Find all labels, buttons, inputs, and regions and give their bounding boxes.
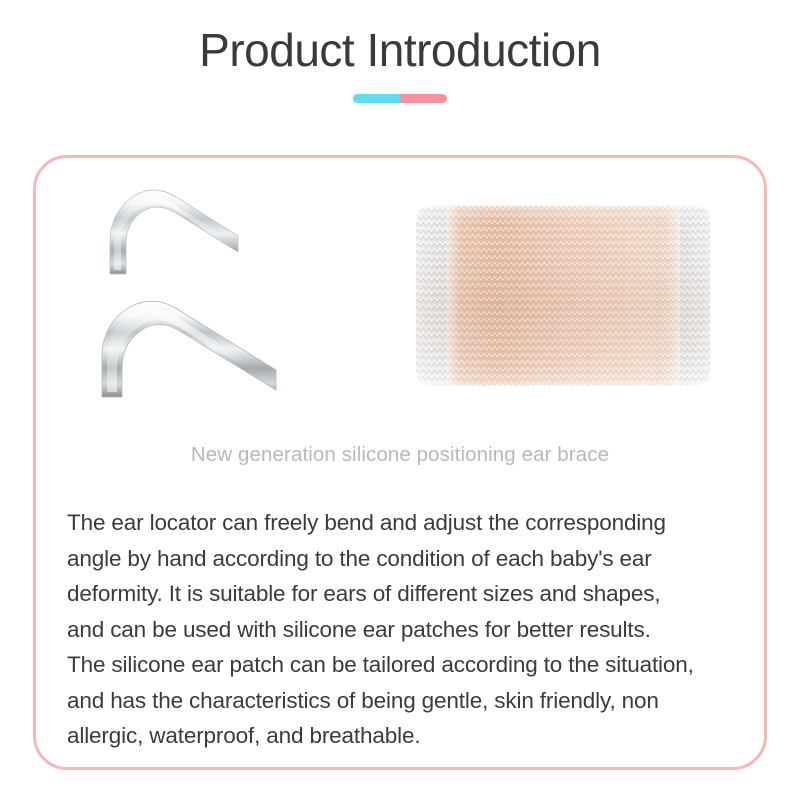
silicone-patch-roll [404,198,722,393]
divider-segment-cyan [353,94,400,103]
divider-segment-pink [400,94,447,103]
ear-brace-large-image [94,298,284,403]
silicone-patch-roll-image [404,198,722,393]
ear-brace-group [94,186,324,401]
page-title: Product Introduction [0,26,800,74]
page-header: Product Introduction [0,0,800,103]
product-introduction-card: New generation silicone positioning ear … [33,155,767,770]
ear-brace-small-image [104,186,244,281]
title-divider [353,94,447,103]
product-description: The ear locator can freely bend and adju… [36,467,764,754]
product-caption: New generation silicone positioning ear … [36,403,764,467]
product-image-row [36,158,764,403]
